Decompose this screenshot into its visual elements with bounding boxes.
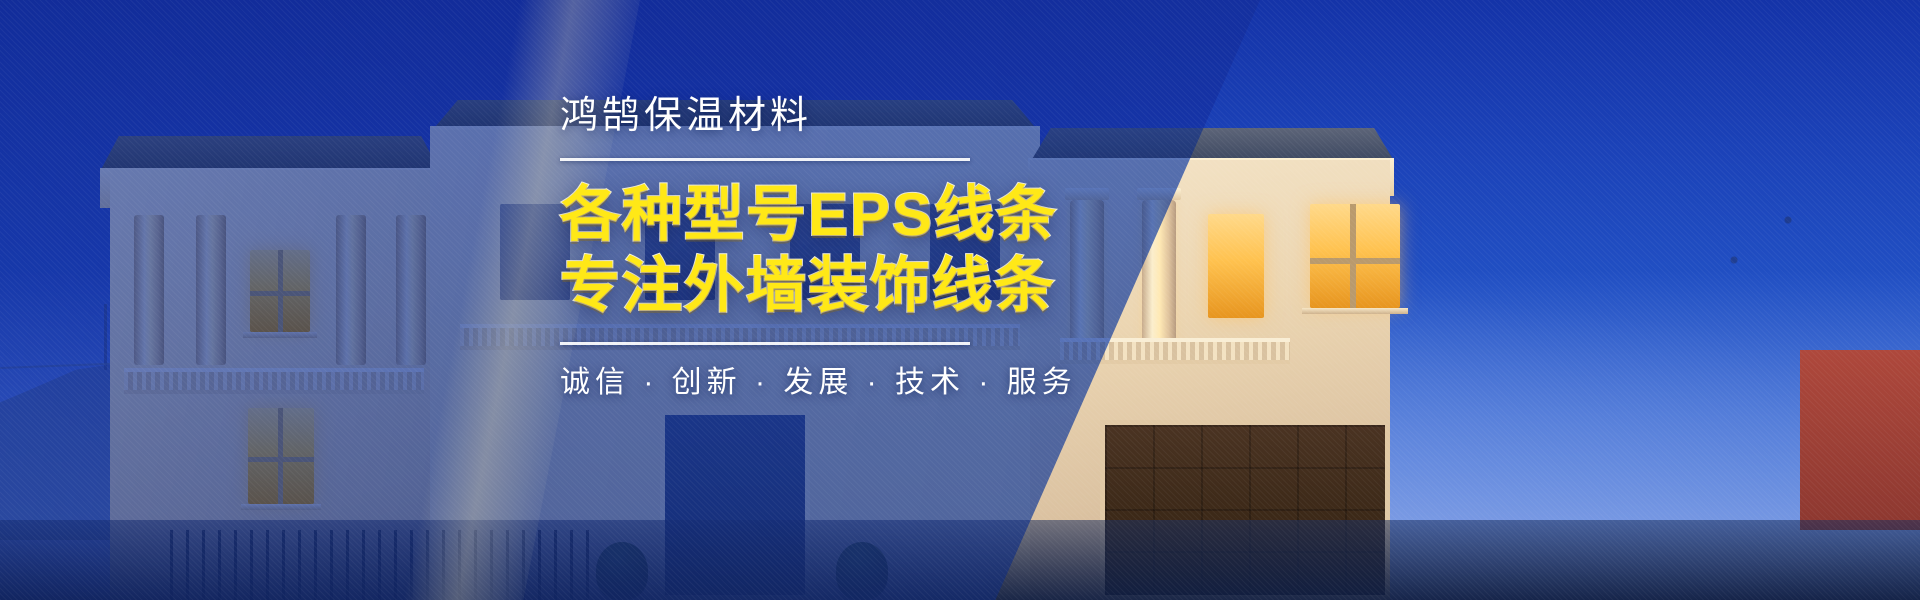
right-wing-window-mullion-h — [1310, 258, 1400, 264]
tagline: 诚信 · 创新 · 发展 · 技术 · 服务 — [560, 365, 1320, 401]
headline-line-2: 专注外墙装饰线条 — [560, 254, 1320, 319]
brand-name: 鸿鹄保温材料 — [560, 96, 1320, 138]
headline-line-1: 各种型号EPS线条 — [560, 183, 1320, 248]
right-wing-window-mullion-v — [1350, 204, 1356, 308]
divider-bottom — [560, 342, 970, 345]
promotional-banner: 鸿鹄保温材料 各种型号EPS线条 专注外墙装饰线条 诚信 · 创新 · 发展 ·… — [0, 0, 1920, 600]
bare-tree-branches — [1680, 180, 1860, 380]
divider-top — [560, 158, 970, 161]
banner-text-block: 鸿鹄保温材料 各种型号EPS线条 专注外墙装饰线条 诚信 · 创新 · 发展 ·… — [560, 96, 1320, 401]
